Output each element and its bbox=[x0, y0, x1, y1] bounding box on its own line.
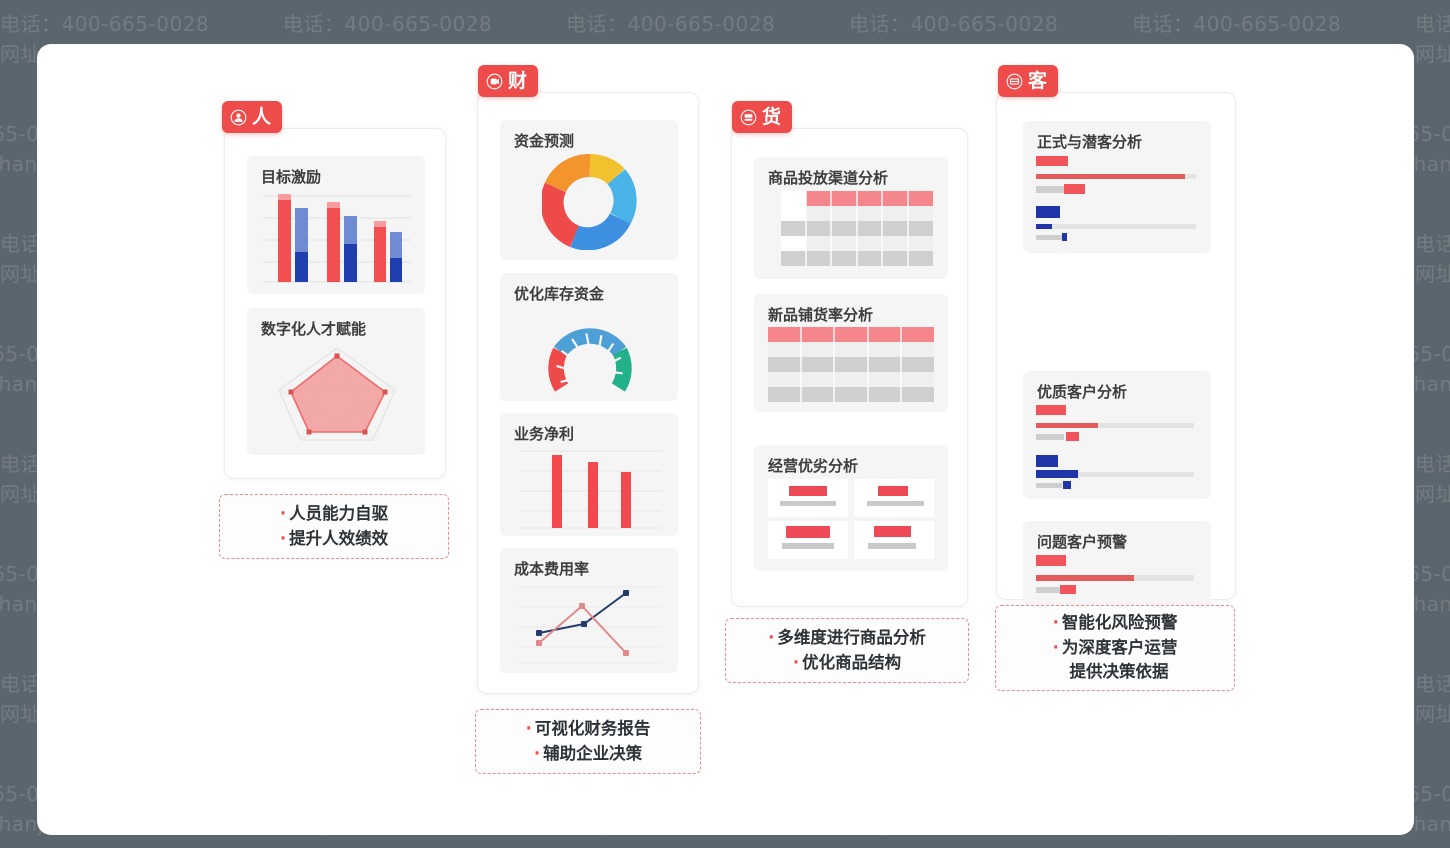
note-people-line-1: 人员能力自驱 bbox=[220, 502, 448, 527]
card-talent-empowerment-title: 数字化人才赋能 bbox=[261, 318, 366, 339]
badge-goods-label: 货 bbox=[762, 108, 781, 127]
card-quality-customer[interactable]: 优质客户分析 bbox=[1023, 371, 1211, 499]
column-goods-panel: 商品投放渠道分析 bbox=[731, 128, 968, 607]
card-prospect-analysis[interactable]: 正式与潜客分析 bbox=[1023, 121, 1211, 253]
column-finance-panel: 资金预测 bbox=[477, 92, 699, 694]
card-cash-forecast[interactable]: 资金预测 bbox=[500, 120, 678, 260]
card-operation-swot-title: 经营优劣分析 bbox=[768, 455, 858, 476]
chart-new-product-table bbox=[768, 327, 934, 403]
note-finance: 可视化财务报告 辅助企业决策 bbox=[475, 709, 701, 774]
chart-cost-rate-lines bbox=[514, 581, 666, 667]
note-finance-line-1: 可视化财务报告 bbox=[476, 717, 700, 742]
badge-people-label: 人 bbox=[252, 108, 271, 127]
note-finance-line-2: 辅助企业决策 bbox=[476, 742, 700, 767]
note-goods-line-1: 多维度进行商品分析 bbox=[726, 626, 968, 651]
box-circle-icon bbox=[740, 109, 757, 126]
card-new-product-coverage-title: 新品铺货率分析 bbox=[768, 304, 873, 325]
card-cost-rate-title: 成本费用率 bbox=[514, 558, 589, 579]
badge-finance-label: 财 bbox=[508, 72, 527, 91]
card-inventory-capital[interactable]: 优化库存资金 bbox=[500, 273, 678, 401]
card-target-incentive-title: 目标激励 bbox=[261, 166, 321, 187]
card-circle-icon bbox=[1006, 73, 1023, 90]
card-quality-customer-title: 优质客户分析 bbox=[1037, 381, 1127, 402]
note-customer-line-1: 智能化风险预警 bbox=[996, 611, 1234, 636]
money-circle-icon bbox=[486, 73, 503, 90]
chart-prospect-bars bbox=[1036, 154, 1200, 242]
badge-people: 人 bbox=[222, 101, 282, 133]
card-new-product-coverage[interactable]: 新品铺货率分析 bbox=[754, 294, 948, 412]
card-prospect-analysis-title: 正式与潜客分析 bbox=[1037, 131, 1142, 152]
note-goods-line-2: 优化商品结构 bbox=[726, 651, 968, 676]
note-customer: 智能化风险预警 为深度客户运营 提供决策依据 bbox=[995, 605, 1235, 691]
card-channel-analysis-title: 商品投放渠道分析 bbox=[768, 167, 888, 188]
chart-target-incentive bbox=[261, 192, 413, 284]
card-operation-swot[interactable]: 经营优劣分析 bbox=[754, 445, 948, 571]
card-channel-analysis[interactable]: 商品投放渠道分析 bbox=[754, 157, 948, 279]
card-target-incentive[interactable]: 目标激励 bbox=[247, 156, 425, 294]
card-cost-rate[interactable]: 成本费用率 bbox=[500, 548, 678, 673]
badge-customer-label: 客 bbox=[1028, 72, 1047, 91]
chart-net-profit-bars bbox=[516, 448, 666, 530]
note-people-line-2: 提升人效绩效 bbox=[220, 527, 448, 552]
card-risk-customer-title: 问题客户预警 bbox=[1037, 531, 1127, 552]
note-customer-line-3: 提供决策依据 bbox=[996, 660, 1234, 685]
chart-cash-donut bbox=[542, 154, 638, 250]
card-net-profit-title: 业务净利 bbox=[514, 423, 574, 444]
column-customer-panel: 正式与潜客分析 bbox=[996, 92, 1236, 600]
card-inventory-capital-title: 优化库存资金 bbox=[514, 283, 604, 304]
chart-quality-bars bbox=[1036, 403, 1200, 489]
chart-operation-tiles bbox=[768, 479, 934, 559]
badge-goods: 货 bbox=[732, 101, 792, 133]
person-circle-icon bbox=[230, 109, 247, 126]
card-cash-forecast-title: 资金预测 bbox=[514, 130, 574, 151]
note-goods: 多维度进行商品分析 优化商品结构 bbox=[725, 618, 969, 683]
chart-talent-radar bbox=[273, 342, 401, 446]
note-customer-line-2: 为深度客户运营 bbox=[996, 636, 1234, 661]
note-people: 人员能力自驱 提升人效绩效 bbox=[219, 494, 449, 559]
card-net-profit[interactable]: 业务净利 bbox=[500, 413, 678, 536]
card-talent-empowerment[interactable]: 数字化人才赋能 bbox=[247, 308, 425, 455]
badge-finance: 财 bbox=[478, 65, 538, 97]
chart-inventory-gauge bbox=[538, 305, 642, 393]
column-people-panel: 目标激励 bbox=[224, 128, 446, 479]
badge-customer: 客 bbox=[998, 65, 1058, 97]
chart-channel-table bbox=[781, 191, 933, 269]
